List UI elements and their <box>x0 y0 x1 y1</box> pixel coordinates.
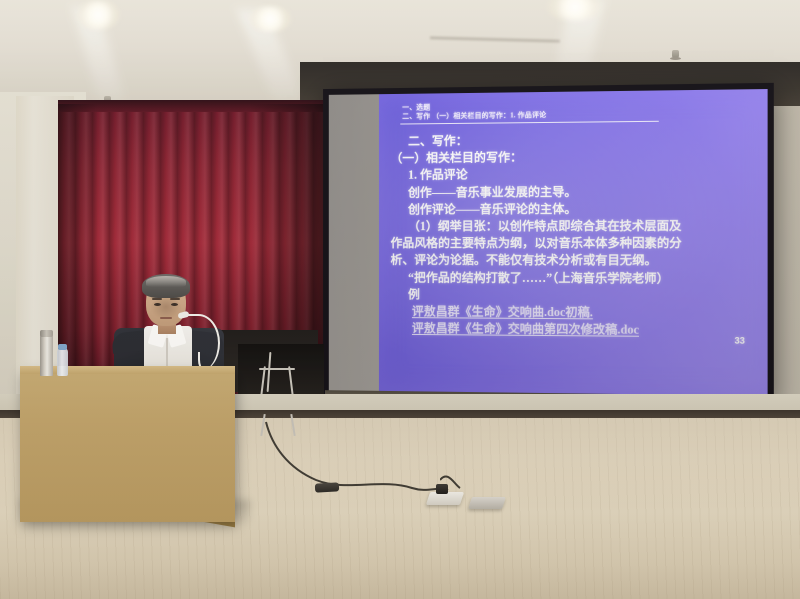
projected-slide: 一、选题 二、写作 （一）相关栏目的写作：1. 作品评论 二、写作：（一）相关栏… <box>379 89 768 397</box>
eyebrow-right <box>170 298 180 300</box>
water-bottle-cap <box>58 344 67 350</box>
chair-cross-bar <box>259 368 295 370</box>
eyebrow-left <box>152 298 162 300</box>
hair-highlight <box>146 276 186 287</box>
slide-line: “把作品的结构打散了……”（上海音乐学院老师） <box>391 269 764 287</box>
ceiling-downlight-icon <box>76 0 120 30</box>
slide-line: 创作——音乐事业发展的主导。 <box>391 182 764 201</box>
eye-right <box>171 303 178 306</box>
cable-inline-adapter <box>315 482 339 492</box>
slide-header: 一、选题 二、写作 （一）相关栏目的写作：1. 作品评论 <box>402 100 722 121</box>
slide-line: 创作评论——音乐评论的主体。 <box>391 200 764 218</box>
slide-line: （1）纲举目张：以创作特点即综合其在技术层面及 <box>391 218 764 236</box>
slide-line: 例 <box>391 286 764 305</box>
slide-document-link[interactable]: 评敖昌群《生命》交响曲第四次修改稿.doc <box>391 320 764 340</box>
slide-content: 一、选题 二、写作 （一）相关栏目的写作：1. 作品评论 二、写作：（一）相关栏… <box>379 89 768 397</box>
vacuum-flask <box>40 334 53 376</box>
lecture-hall-photo: 一、选题 二、写作 （一）相关栏目的写作：1. 作品评论 二、写作：（一）相关栏… <box>0 0 800 599</box>
slide-page-number: 33 <box>735 335 745 345</box>
slide-line: 析、评论为论据。不能仅有技术分析或有目无纲。 <box>391 252 764 270</box>
slide-line: 作品风格的主要特点为纲，以对音乐本体多种因素的分 <box>391 235 764 253</box>
lectern <box>20 370 235 522</box>
floor-power-outlet <box>468 497 506 509</box>
mouth <box>160 317 172 319</box>
projection-screen: 一、选题 二、写作 （一）相关栏目的写作：1. 作品评论 二、写作：（一）相关栏… <box>323 83 774 405</box>
power-plug-icon <box>436 484 448 494</box>
chair-leg <box>267 352 272 392</box>
slide-body: 二、写作：（一）相关栏目的写作：1. 作品评论创作——音乐事业发展的主导。创作评… <box>391 130 764 340</box>
slide-header-rule <box>400 121 659 125</box>
eye-left <box>154 303 161 306</box>
water-bottle <box>57 348 68 376</box>
vacuum-flask-cap <box>40 330 53 337</box>
screen-surface: 一、选题 二、写作 （一）相关栏目的写作：1. 作品评论 二、写作：（一）相关栏… <box>329 89 768 397</box>
ceiling-downlight-icon <box>248 6 292 32</box>
slide-line: 1. 作品评论 <box>391 165 764 185</box>
sprinkler-head-icon <box>672 50 679 59</box>
